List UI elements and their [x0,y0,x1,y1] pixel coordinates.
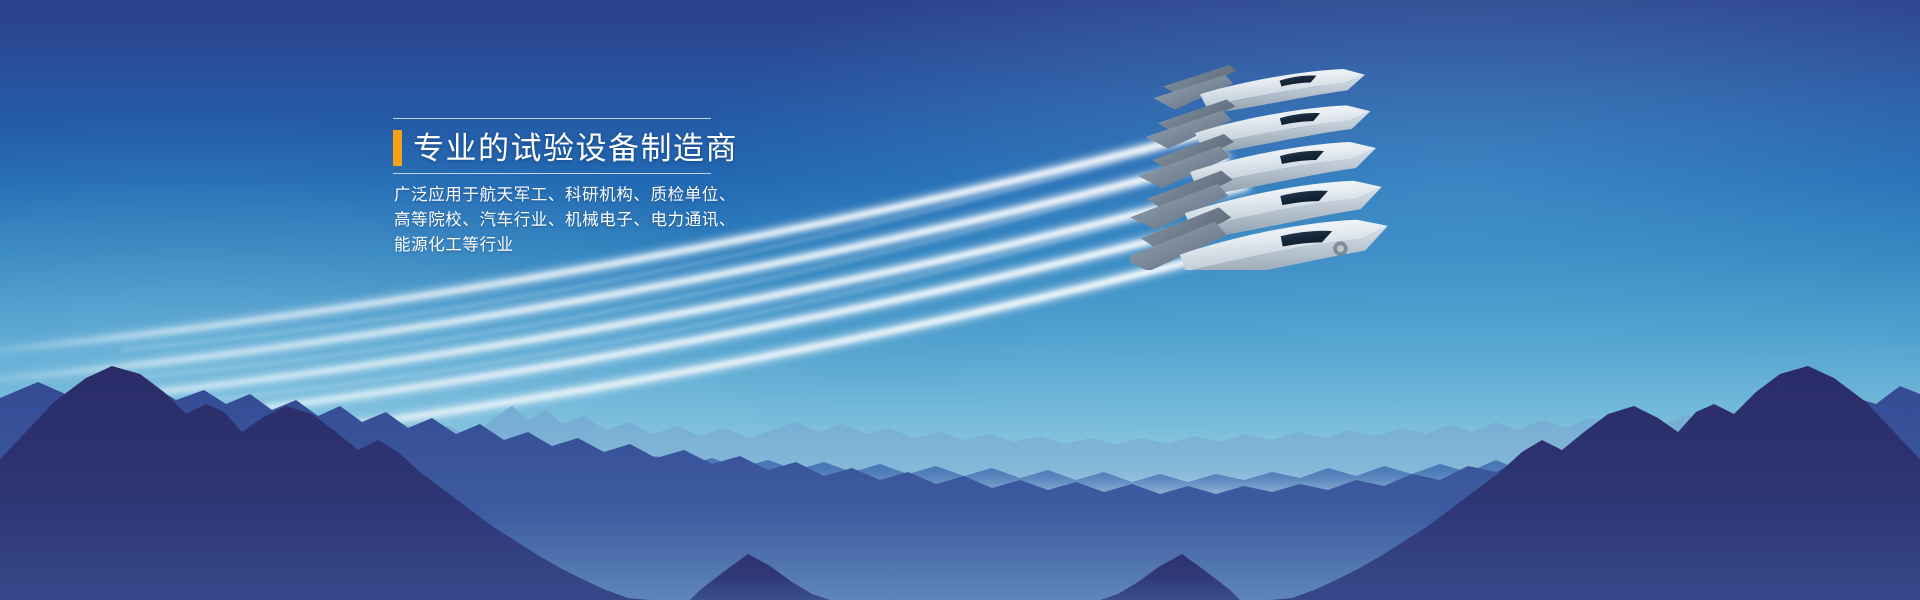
mountain-range-illustration [0,340,1920,600]
hero-banner: 专业的试验设备制造商 广泛应用于航天军工、科研机构、质检单位、 高等院校、汽车行… [0,0,1920,600]
divider-top [393,118,711,119]
banner-headline: 专业的试验设备制造商 [413,133,738,164]
subtext-line-3: 能源化工等行业 [394,233,733,258]
subtext-line-1: 广泛应用于航天军工、科研机构、质检单位、 [394,183,733,208]
subtext-line-2: 高等院校、汽车行业、机械电子、电力通讯、 [394,208,733,233]
divider-bottom [393,173,711,174]
accent-bar-icon [393,130,402,166]
headline-row: 专业的试验设备制造商 [393,130,733,166]
fighter-jet-formation-icon [1130,40,1510,270]
banner-text-block: 专业的试验设备制造商 广泛应用于航天军工、科研机构、质检单位、 高等院校、汽车行… [393,118,733,258]
banner-subtext: 广泛应用于航天军工、科研机构、质检单位、 高等院校、汽车行业、机械电子、电力通讯… [394,183,733,258]
